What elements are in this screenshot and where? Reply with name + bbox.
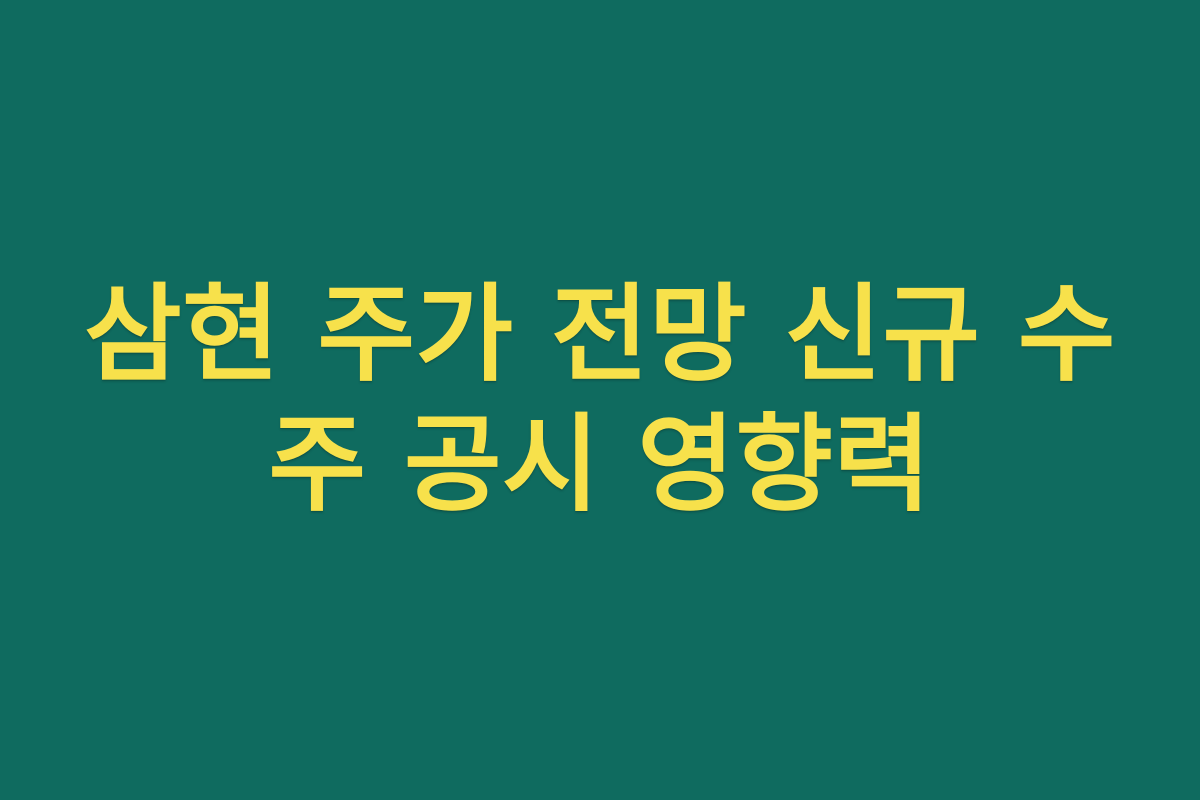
thumbnail-card: 삼현 주가 전망 신규 수 주 공시 영향력 [0,0,1200,800]
title-line-2: 주 공시 영향력 [70,400,1130,530]
title-line-1: 삼현 주가 전망 신규 수 [70,270,1130,400]
title-block: 삼현 주가 전망 신규 수 주 공시 영향력 [70,270,1130,530]
